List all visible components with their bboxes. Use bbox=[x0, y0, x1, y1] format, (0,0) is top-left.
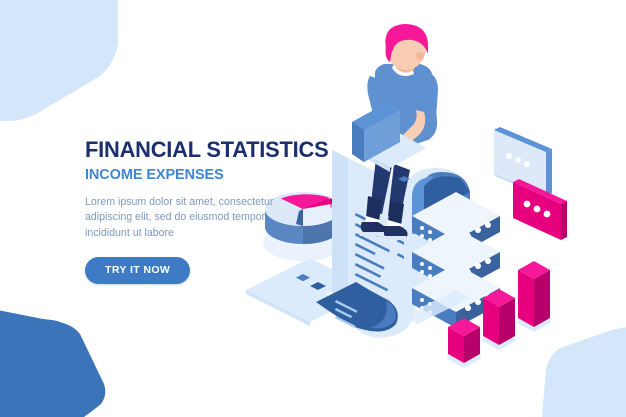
bar-chart-bar bbox=[446, 318, 482, 368]
bar-chart-bar bbox=[516, 261, 552, 332]
copy-block: FINANCIAL STATISTICS INCOME EXPENSES Lor… bbox=[85, 138, 300, 284]
try-it-now-button[interactable]: TRY IT NOW bbox=[85, 257, 190, 284]
page-title: FINANCIAL STATISTICS bbox=[85, 138, 294, 162]
body-paragraph: Lorem ipsum dolor sit amet, consectetur … bbox=[85, 195, 275, 241]
illustration-page: FINANCIAL STATISTICS INCOME EXPENSES Lor… bbox=[0, 0, 626, 417]
page-subtitle: INCOME EXPENSES bbox=[85, 168, 300, 183]
bar-chart-bar bbox=[481, 289, 517, 350]
